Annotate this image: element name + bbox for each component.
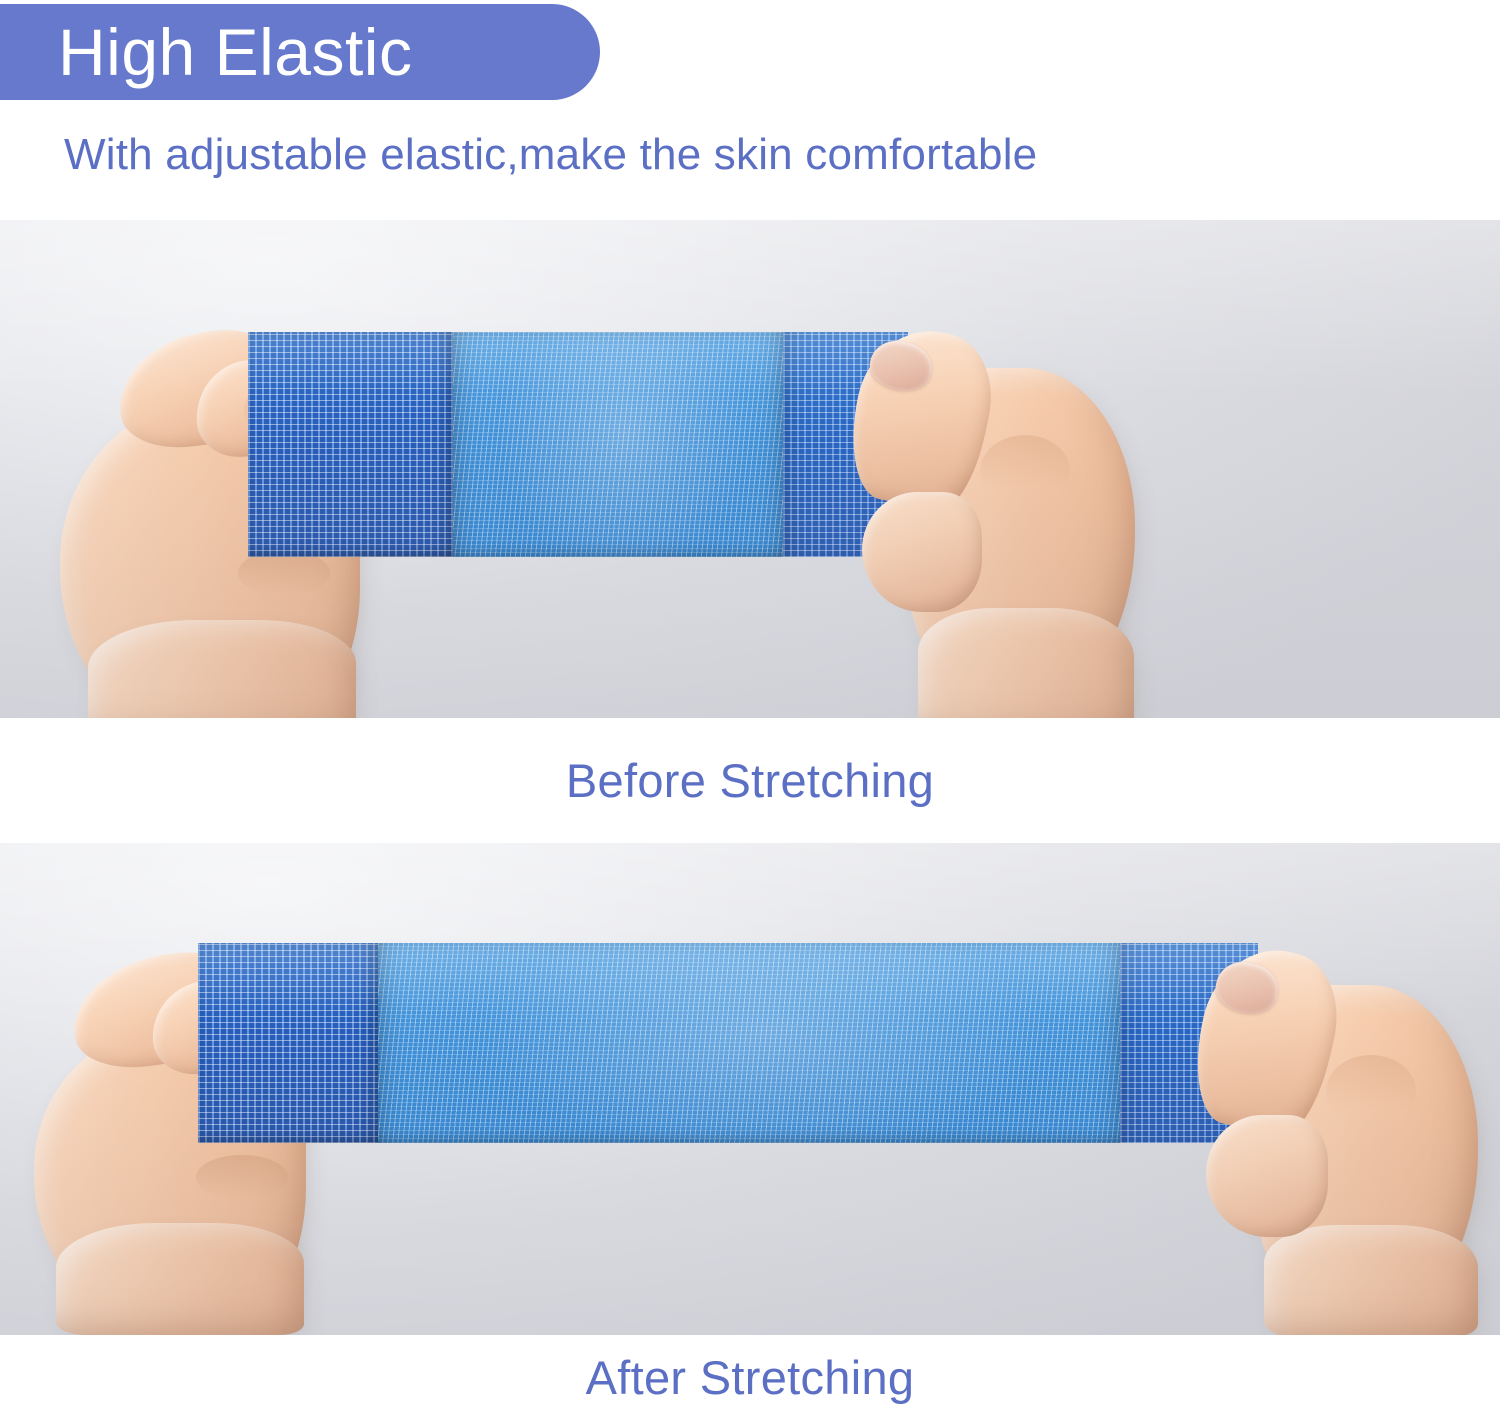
caption-after-stretching: After Stretching — [586, 1354, 915, 1401]
right-wrist-after — [1264, 1225, 1478, 1335]
left-wrist-after — [56, 1223, 304, 1335]
bandage-stretched-segment-after — [378, 943, 1120, 1143]
right-index-finger-after — [1206, 1115, 1328, 1237]
photo-panel-before — [0, 220, 1500, 718]
header: High Elastic With adjustable elastic,mak… — [0, 0, 1500, 220]
bandage-after — [198, 943, 1258, 1143]
caption-band-before: Before Stretching — [0, 718, 1500, 843]
badge-label: High Elastic — [0, 19, 412, 85]
left-palm-crease-after — [196, 1155, 288, 1199]
right-index-finger — [862, 492, 982, 612]
header-subtitle: With adjustable elastic,make the skin co… — [64, 130, 1037, 181]
right-wrist — [918, 608, 1134, 718]
bandage-before — [248, 332, 908, 557]
photo-panel-after — [0, 843, 1500, 1335]
bandage-gripped-left-segment-after — [198, 943, 378, 1143]
left-wrist — [88, 620, 356, 718]
bandage-gripped-left-segment — [248, 332, 453, 557]
caption-band-after: After Stretching — [0, 1335, 1500, 1419]
right-knuckle-shadow — [980, 435, 1070, 507]
caption-before-stretching: Before Stretching — [566, 757, 934, 804]
bandage-stretched-segment — [453, 332, 783, 557]
right-knuckle-shadow-after — [1326, 1055, 1416, 1127]
high-elastic-badge: High Elastic — [0, 4, 600, 100]
